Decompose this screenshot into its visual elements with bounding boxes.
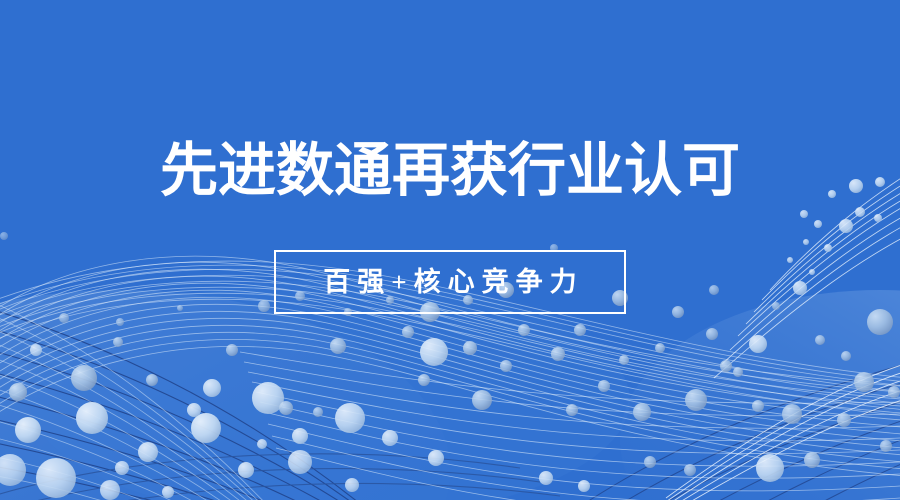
subtitle-badge: 百强+核心竞争力: [274, 250, 626, 314]
promo-banner: 先进数通再获行业认可 百强+核心竞争力: [0, 0, 900, 500]
page-title: 先进数通再获行业认可: [160, 140, 740, 202]
banner-content: 先进数通再获行业认可 百强+核心竞争力: [0, 0, 900, 500]
subtitle-text: 百强+核心竞争力: [316, 267, 583, 297]
